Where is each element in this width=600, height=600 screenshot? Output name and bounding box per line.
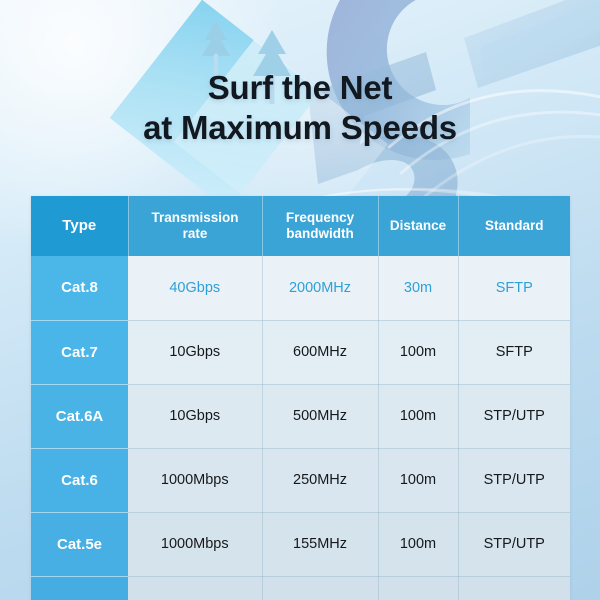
- cell-distance: 100m: [378, 320, 458, 384]
- cell-frequency: 155MHz: [262, 512, 378, 576]
- cell-distance: 100m: [378, 448, 458, 512]
- cell-distance: 30m: [378, 256, 458, 320]
- cable-comparison-table: Type Transmission rate Frequency bandwid…: [31, 196, 570, 600]
- table-row: Cat.5 100Mbps 100MHz 100m STP/UTP: [31, 576, 570, 600]
- cell-standard: STP/UTP: [458, 384, 570, 448]
- table-header: Type Transmission rate Frequency bandwid…: [31, 196, 570, 256]
- cell-standard: SFTP: [458, 320, 570, 384]
- cell-rate: 10Gbps: [128, 384, 262, 448]
- column-header-standard: Standard: [458, 196, 570, 256]
- cell-distance: 100m: [378, 512, 458, 576]
- cell-frequency: 500MHz: [262, 384, 378, 448]
- cell-standard: SFTP: [458, 256, 570, 320]
- cell-type: Cat.8: [31, 256, 128, 320]
- title-line-1: Surf the Net: [208, 69, 393, 106]
- cell-distance: 100m: [378, 576, 458, 600]
- table-row: Cat.5e 1000Mbps 155MHz 100m STP/UTP: [31, 512, 570, 576]
- cell-standard: STP/UTP: [458, 576, 570, 600]
- column-header-distance: Distance: [378, 196, 458, 256]
- cell-distance: 100m: [378, 384, 458, 448]
- table-header-row: Type Transmission rate Frequency bandwid…: [31, 196, 570, 256]
- cell-type: Cat.6: [31, 448, 128, 512]
- cell-type: Cat.5e: [31, 512, 128, 576]
- cell-type: Cat.7: [31, 320, 128, 384]
- table-row: Cat.6A 10Gbps 500MHz 100m STP/UTP: [31, 384, 570, 448]
- cell-frequency: 600MHz: [262, 320, 378, 384]
- cell-type: Cat.6A: [31, 384, 128, 448]
- table-row: Cat.8 40Gbps 2000MHz 30m SFTP: [31, 256, 570, 320]
- cell-frequency: 2000MHz: [262, 256, 378, 320]
- cell-rate: 10Gbps: [128, 320, 262, 384]
- cell-rate: 100Mbps: [128, 576, 262, 600]
- table-body: Cat.8 40Gbps 2000MHz 30m SFTP Cat.7 10Gb…: [31, 256, 570, 600]
- poster-title: Surf the Net at Maximum Speeds: [0, 68, 600, 149]
- cell-rate: 1000Mbps: [128, 448, 262, 512]
- poster-root: Surf the Net at Maximum Speeds Type Tran…: [0, 0, 600, 600]
- table-row: Cat.6 1000Mbps 250MHz 100m STP/UTP: [31, 448, 570, 512]
- column-header-type: Type: [31, 196, 128, 256]
- column-header-transmission-rate: Transmission rate: [128, 196, 262, 256]
- cell-type: Cat.5: [31, 576, 128, 600]
- title-line-2: at Maximum Speeds: [0, 108, 600, 148]
- cell-standard: STP/UTP: [458, 512, 570, 576]
- cell-frequency: 100MHz: [262, 576, 378, 600]
- table-row: Cat.7 10Gbps 600MHz 100m SFTP: [31, 320, 570, 384]
- cell-rate: 40Gbps: [128, 256, 262, 320]
- cell-standard: STP/UTP: [458, 448, 570, 512]
- column-header-frequency-bandwidth: Frequency bandwidth: [262, 196, 378, 256]
- cell-frequency: 250MHz: [262, 448, 378, 512]
- cell-rate: 1000Mbps: [128, 512, 262, 576]
